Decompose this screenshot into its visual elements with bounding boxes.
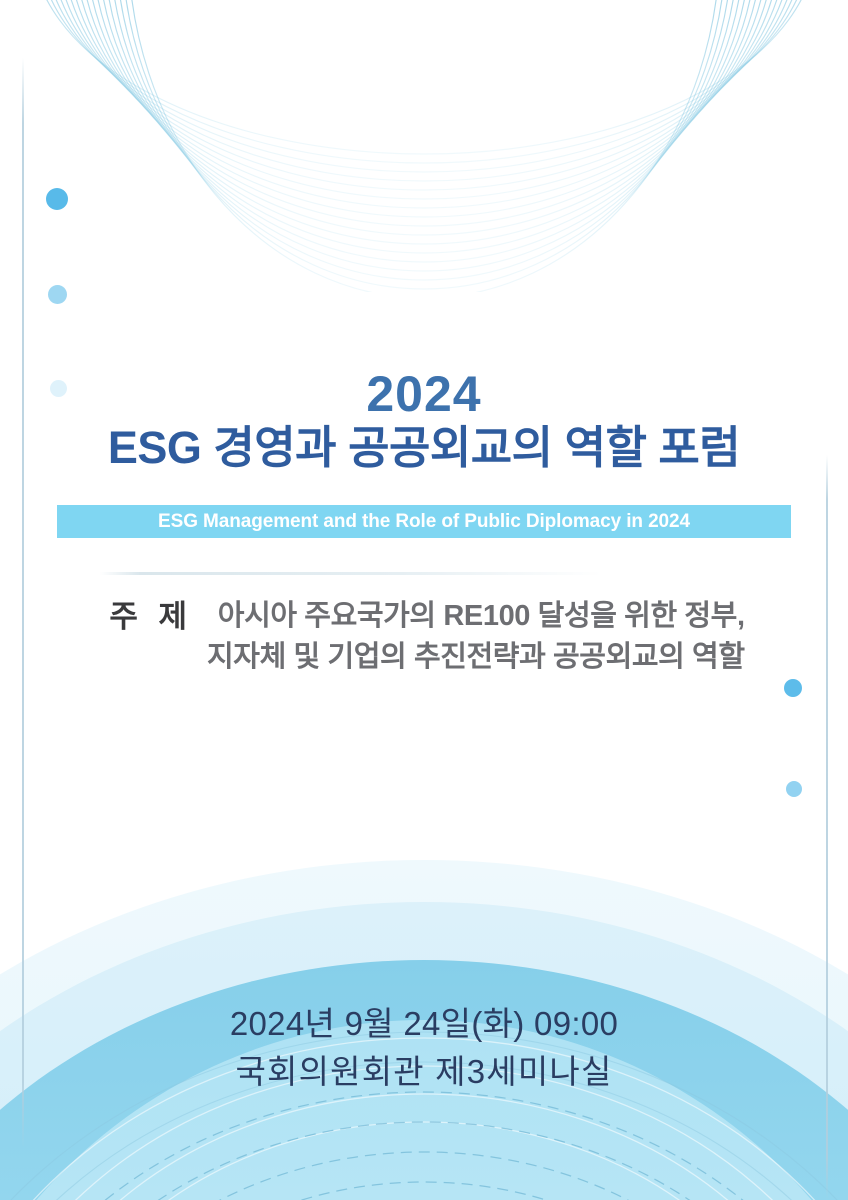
event-venue: 국회의원회관 제3세미나실 — [0, 1048, 848, 1096]
subtitle-english: ESG Management and the Role of Public Di… — [158, 511, 690, 533]
event-info-block: 2024년 9월 24일(화) 09:00 국회의원회관 제3세미나실 — [0, 1000, 848, 1096]
section-divider — [100, 572, 602, 575]
page-title: ESG 경영과 공공외교의 역할 포럼 — [0, 422, 848, 473]
event-date: 2024년 9월 24일(화) 09:00 — [0, 1000, 848, 1048]
subtitle-band: ESG Management and the Role of Public Di… — [57, 505, 791, 538]
decor-dot-left-1 — [46, 188, 68, 210]
decor-dot-left-2 — [48, 285, 67, 304]
subject-text: 아시아 주요국가의 RE100 달성을 위한 정부, 지자체 및 기업의 추진전… — [207, 596, 745, 678]
decor-dot-right-2 — [786, 781, 802, 797]
subject-block: 주 제 아시아 주요국가의 RE100 달성을 위한 정부, 지자체 및 기업의… — [0, 596, 848, 678]
title-year: 2024 — [0, 368, 848, 420]
subject-label: 주 제 — [109, 596, 207, 638]
decor-dot-right-1 — [784, 679, 802, 697]
subject-line-2: 지자체 및 기업의 추진전략과 공공외교의 역할 — [207, 637, 745, 678]
subject-line-1: 아시아 주요국가의 RE100 달성을 위한 정부, — [207, 596, 745, 637]
poster-root: 2024 ESG 경영과 공공외교의 역할 포럼 ESG Management … — [0, 0, 848, 1200]
poster-title-block: 2024 ESG 경영과 공공외교의 역할 포럼 — [0, 368, 848, 473]
